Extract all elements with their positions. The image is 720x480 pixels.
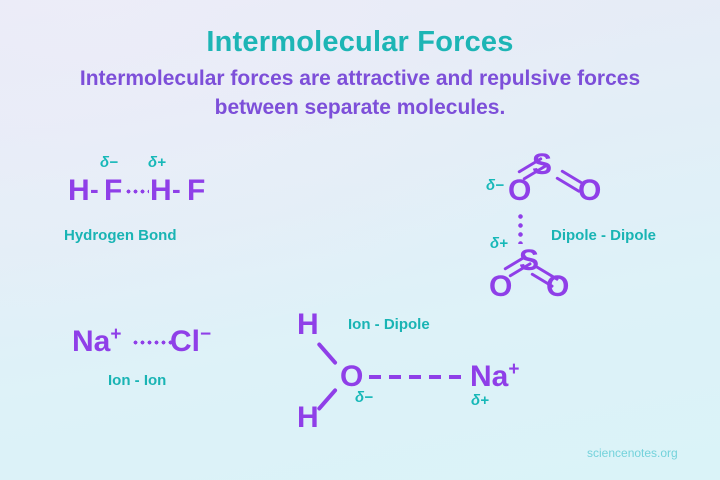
hydrogen-bond-dash-2: - (172, 176, 181, 202)
watermark-sciencenotes: sciencenotes.org (587, 447, 678, 459)
ion-dipole-delta-minus: δ− (355, 390, 373, 405)
hydrogen-bond-delta-plus: δ+ (148, 155, 166, 170)
ion-dipole-bond-oh-bottom (316, 388, 337, 412)
ion-ion-label: Ion - Ion (108, 373, 166, 388)
dipole-bottom-sulfur: S (519, 246, 539, 276)
hydrogen-bond-delta-minus: δ− (100, 155, 118, 170)
dipole-top-delta-minus: δ− (486, 178, 504, 193)
ion-dipole-cation-charge: + (508, 359, 519, 380)
ion-dipole-bond-oh-top (316, 342, 337, 366)
hydrogen-bond-atom-h2: H (150, 176, 172, 206)
dipole-bottom-delta-plus: δ+ (490, 236, 508, 251)
ion-dipole-cation: Na+ (470, 362, 519, 392)
ion-ion-anion: Cl− (170, 327, 211, 357)
subtitle-line-2: between separate molecules. (40, 93, 680, 122)
dipole-dipole-label: Dipole - Dipole (551, 228, 656, 243)
ion-ion-dotted-interaction (132, 340, 172, 345)
hydrogen-bond-dotted-interaction (125, 189, 149, 194)
hydrogen-bond-dash-1: - (90, 176, 99, 202)
ion-dipole-oxygen: O (340, 362, 363, 392)
ion-dipole-hydrogen-top: H (297, 310, 319, 340)
subtitle-line-1: Intermolecular forces are attractive and… (40, 64, 680, 93)
infographic-canvas: Intermolecular Forces Intermolecular for… (0, 0, 720, 480)
hydrogen-bond-atom-h1: H (68, 176, 90, 206)
hydrogen-bond-label: Hydrogen Bond (64, 228, 177, 243)
ion-ion-anion-charge: − (200, 324, 211, 345)
hydrogen-bond-atom-f1: F (104, 176, 122, 206)
ion-dipole-hydrogen-bottom: H (297, 403, 319, 433)
ion-dipole-label: Ion - Dipole (348, 317, 430, 332)
page-subtitle: Intermolecular forces are attractive and… (40, 64, 680, 122)
ion-ion-cation: Na+ (72, 327, 121, 357)
page-title: Intermolecular Forces (0, 26, 720, 59)
dipole-dipole-dotted-interaction (518, 212, 523, 244)
ion-ion-cation-charge: + (110, 324, 121, 345)
hydrogen-bond-atom-f2: F (187, 176, 205, 206)
dipole-top-oxygen-left: O (508, 176, 531, 206)
ion-dipole-dashed-interaction (369, 375, 467, 379)
ion-dipole-delta-plus: δ+ (471, 393, 489, 408)
